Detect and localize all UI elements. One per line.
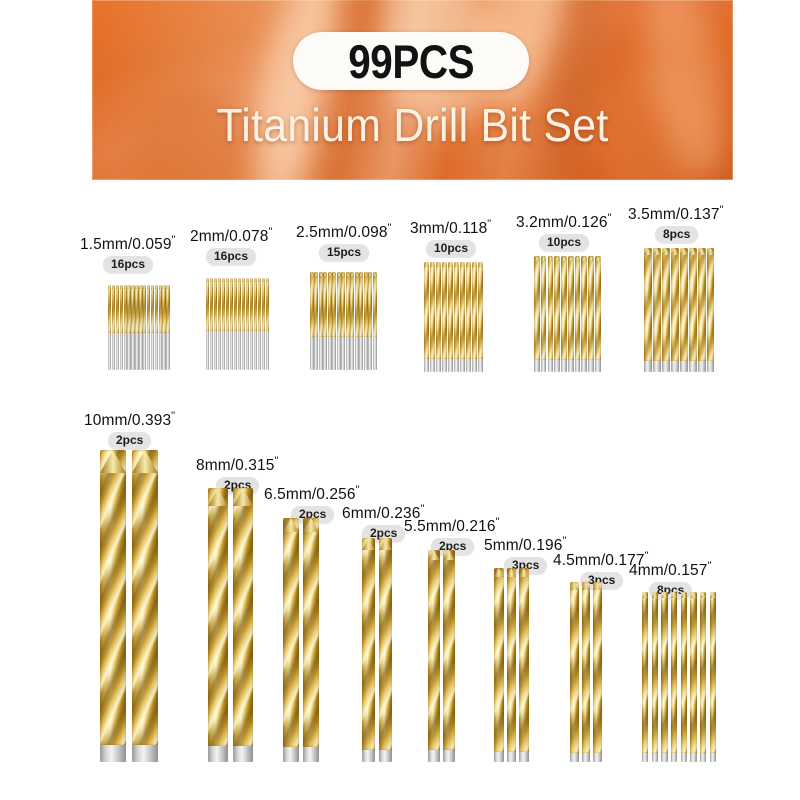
drill-bit-shank	[131, 333, 134, 370]
inch-mark: "	[496, 516, 500, 528]
drill-bit	[214, 278, 217, 370]
drill-bit-flute	[226, 278, 229, 331]
drill-bit	[707, 248, 715, 372]
drill-bit	[710, 592, 716, 762]
piece-count-label: 99PCS	[348, 34, 474, 89]
drill-bit	[436, 262, 441, 372]
bit-count-badge: 16pcs	[206, 248, 256, 265]
bit-count-badge: 16pcs	[103, 256, 153, 273]
drill-bit-shank	[214, 331, 217, 370]
drill-bit-flute	[680, 248, 688, 361]
drill-bit-group	[428, 550, 455, 762]
drill-bit	[519, 568, 529, 762]
drill-bit-flute	[448, 262, 453, 359]
bit-size-text: 3mm/0.118	[410, 220, 487, 237]
drill-bit-shank	[127, 333, 130, 370]
drill-bit	[143, 285, 146, 370]
drill-bit-flute	[139, 285, 142, 333]
drill-bit-shank	[346, 337, 350, 370]
drill-bit-shank	[108, 333, 111, 370]
drill-bit-shank	[218, 331, 221, 370]
drill-bit-shank	[442, 359, 447, 372]
drill-bit-shank	[332, 337, 336, 370]
inch-mark: "	[274, 455, 278, 467]
drill-bit	[222, 278, 225, 370]
drill-bit	[671, 248, 679, 372]
drill-bit-shank	[350, 337, 354, 370]
drill-bit-flute	[238, 278, 241, 331]
drill-bit-shank	[246, 331, 249, 370]
drill-bit-flute	[116, 285, 119, 333]
drill-bit-flute	[319, 272, 323, 337]
drill-bit-shank	[707, 361, 715, 372]
drill-bit-group	[100, 450, 158, 762]
bit-size-text: 2.5mm/0.098	[296, 224, 388, 241]
bit-size-text: 10mm/0.393	[84, 412, 171, 429]
drill-bit	[680, 248, 688, 372]
drill-bit-flute	[143, 285, 146, 333]
drill-bit-group	[310, 272, 377, 370]
drill-bit	[379, 538, 392, 762]
drill-bit-flute	[162, 285, 165, 333]
drill-bit-shank	[368, 337, 372, 370]
drill-bit-flute	[582, 582, 591, 753]
drill-bit-flute	[127, 285, 130, 333]
drill-bit-shank	[460, 359, 465, 372]
drill-bit-flute	[472, 262, 477, 359]
drill-bit-shank	[210, 331, 213, 370]
drill-bit-flute	[166, 285, 169, 333]
drill-bit-flute	[568, 256, 574, 360]
drill-bit-flute	[362, 538, 375, 750]
drill-bit-shank	[230, 331, 233, 370]
drill-bit-shank	[568, 360, 574, 372]
drill-bit-flute	[466, 262, 471, 359]
drill-bit	[238, 278, 241, 370]
drill-bit-flute	[254, 278, 257, 331]
drill-bit-group	[642, 592, 716, 762]
drill-bit-shank	[364, 337, 368, 370]
drill-bit-group	[644, 248, 714, 372]
drill-bit-flute	[368, 272, 372, 337]
inch-mark: "	[171, 410, 175, 422]
drill-bit	[310, 272, 314, 370]
drill-bit	[671, 592, 677, 762]
drill-bit-shank	[653, 361, 661, 372]
drill-bit-flute	[246, 278, 249, 331]
drill-bit-shank	[362, 750, 375, 762]
drill-bit-flute	[588, 256, 594, 360]
drill-bit-shank	[262, 331, 265, 370]
drill-bit-shank	[680, 361, 688, 372]
drill-bit	[507, 568, 517, 762]
drill-bit-flute	[135, 285, 138, 333]
drill-bit	[147, 285, 150, 370]
drill-bit-flute	[314, 272, 318, 337]
drill-bit-shank	[155, 333, 158, 370]
drill-bit-shank	[671, 753, 677, 762]
drill-bit-shank	[700, 753, 706, 762]
inch-mark: "	[720, 204, 724, 216]
drill-bit-shank	[541, 360, 547, 372]
drill-bit-flute	[653, 248, 661, 361]
drill-bit-shank	[341, 337, 345, 370]
drill-bit-flute	[379, 538, 392, 750]
bit-size-text: 8mm/0.315	[196, 457, 274, 474]
drill-bit-shank	[661, 753, 667, 762]
drill-bit-shank	[238, 331, 241, 370]
drill-bit-group	[494, 568, 529, 762]
bit-size-text: 1.5mm/0.059	[80, 236, 172, 253]
drill-bit-flute	[210, 278, 213, 331]
drill-bit-shank	[698, 361, 706, 372]
drill-bit-shank	[689, 361, 697, 372]
drill-bit	[166, 285, 169, 370]
drill-bit	[120, 285, 123, 370]
drill-bit-group	[362, 538, 392, 762]
drill-bit-flute	[478, 262, 483, 359]
drill-bit	[226, 278, 229, 370]
drill-bit	[108, 285, 111, 370]
drill-bit	[112, 285, 115, 370]
drill-bit-flute	[662, 248, 670, 361]
bit-size-text: 6.5mm/0.256	[264, 486, 356, 503]
drill-bit	[233, 488, 253, 762]
drill-bit-shank	[120, 333, 123, 370]
drill-bit	[303, 518, 319, 762]
drill-bit-flute	[266, 278, 269, 331]
drill-bit-shank	[226, 331, 229, 370]
drill-bit-flute	[671, 248, 679, 361]
drill-bit-shank	[359, 337, 363, 370]
drill-bit-flute	[346, 272, 350, 337]
drill-bit-shank	[323, 337, 327, 370]
drill-bit-flute	[595, 256, 601, 360]
bit-count-badge: 10pcs	[539, 234, 589, 251]
drill-bit-flute	[332, 272, 336, 337]
drill-bit	[319, 272, 323, 370]
drill-bit-shank	[135, 333, 138, 370]
drill-bit	[218, 278, 221, 370]
drill-bit-shank	[208, 746, 228, 762]
drill-bit	[100, 450, 126, 762]
drill-bit-shank	[428, 750, 440, 762]
product-image-canvas: 99PCS Titanium Drill Bit Set 1.5mm/0.059…	[0, 0, 800, 800]
drill-bit-flute	[644, 248, 652, 361]
drill-bit-flute	[436, 262, 441, 359]
drill-bit-flute	[424, 262, 429, 359]
drill-bit	[258, 278, 261, 370]
bit-size-text: 3.2mm/0.126	[516, 214, 608, 231]
drill-bit-flute	[570, 582, 579, 753]
drill-bit	[568, 256, 574, 372]
drill-bit-shank	[337, 337, 341, 370]
drill-bit-shank	[283, 747, 299, 762]
bit-size-label: 2.5mm/0.098"	[296, 222, 392, 242]
drill-bit-shank	[132, 745, 158, 762]
banner-blur-streak	[239, 0, 355, 180]
drill-bit	[548, 256, 554, 372]
drill-bit	[364, 272, 368, 370]
bit-size-text: 5.5mm/0.216	[404, 518, 496, 535]
drill-bit-flute	[661, 592, 667, 753]
drill-bit-group	[283, 518, 319, 762]
drill-bit	[246, 278, 249, 370]
drill-bit-group	[570, 582, 602, 762]
drill-bit-shank	[355, 337, 359, 370]
drill-bit	[250, 278, 253, 370]
drill-bit	[323, 272, 327, 370]
bit-count-badge: 15pcs	[319, 244, 369, 261]
drill-bit	[127, 285, 130, 370]
drill-bit-shank	[466, 359, 471, 372]
drill-bit-flute	[671, 592, 677, 753]
drill-bit-flute	[250, 278, 253, 331]
drill-bit-flute	[131, 285, 134, 333]
drill-bit-flute	[328, 272, 332, 337]
drill-bit-shank	[233, 746, 253, 762]
bit-size-text: 5mm/0.196	[484, 537, 562, 554]
drill-bit	[653, 248, 661, 372]
drill-bit	[428, 550, 440, 762]
drill-bit	[162, 285, 165, 370]
drill-bit-flute	[652, 592, 658, 753]
inch-mark: "	[562, 535, 566, 547]
drill-bit	[689, 248, 697, 372]
drill-bit-flute	[681, 592, 687, 753]
inch-mark: "	[172, 234, 176, 246]
drill-bit-flute	[242, 278, 245, 331]
drill-bit-shank	[443, 750, 455, 762]
drill-bit-flute	[642, 592, 648, 753]
drill-bit	[341, 272, 345, 370]
bit-size-label: 5.5mm/0.216"	[404, 516, 500, 536]
bit-size-text: 4mm/0.157	[629, 562, 707, 579]
drill-bit-shank	[548, 360, 554, 372]
drill-bit	[242, 278, 245, 370]
bit-size-label: 2mm/0.078"	[190, 226, 272, 246]
drill-bit	[443, 550, 455, 762]
drill-bit	[254, 278, 257, 370]
drill-bit	[283, 518, 299, 762]
drill-bit	[644, 248, 652, 372]
drill-bit-shank	[124, 333, 127, 370]
drill-bit-shank	[159, 333, 162, 370]
drill-bit-shank	[582, 753, 591, 762]
inch-mark: "	[268, 226, 272, 238]
drill-bit-flute	[519, 568, 529, 752]
drill-bit	[595, 256, 601, 372]
drill-bit-shank	[328, 337, 332, 370]
drill-bit-flute	[700, 592, 706, 753]
bit-size-label: 1.5mm/0.059"	[80, 234, 176, 254]
drill-bit-flute	[698, 248, 706, 361]
drill-bit-shank	[258, 331, 261, 370]
drill-bit	[135, 285, 138, 370]
page-title: Titanium Drill Bit Set	[114, 98, 710, 152]
drill-bit-flute	[233, 488, 253, 746]
drill-bit-flute	[112, 285, 115, 333]
drill-bit-flute	[359, 272, 363, 337]
drill-bit-shank	[644, 361, 652, 372]
drill-bit	[266, 278, 269, 370]
drill-bit-flute	[208, 488, 228, 746]
drill-bit-flute	[120, 285, 123, 333]
drill-bit	[424, 262, 429, 372]
drill-bit-shank	[652, 753, 658, 762]
bit-size-label: 6.5mm/0.256"	[264, 484, 360, 504]
drill-bit-shank	[595, 360, 601, 372]
drill-bit-flute	[323, 272, 327, 337]
drill-bit	[581, 256, 587, 372]
drill-bit-shank	[319, 337, 323, 370]
inch-mark: "	[487, 218, 491, 230]
drill-bit	[700, 592, 706, 762]
drill-bit-shank	[373, 337, 377, 370]
drill-bit-flute	[575, 256, 581, 360]
drill-bit-flute	[337, 272, 341, 337]
drill-bit	[534, 256, 540, 372]
drill-bit-flute	[341, 272, 345, 337]
drill-bit	[690, 592, 696, 762]
drill-bit	[155, 285, 158, 370]
inch-mark: "	[707, 560, 711, 572]
drill-bit-flute	[108, 285, 111, 333]
drill-bit-shank	[662, 361, 670, 372]
drill-bit-flute	[443, 550, 455, 750]
drill-bit-shank	[147, 333, 150, 370]
drill-bit-shank	[112, 333, 115, 370]
bit-size-label: 3mm/0.118"	[410, 218, 491, 238]
drill-bit	[332, 272, 336, 370]
drill-bit-shank	[303, 747, 319, 762]
drill-bit	[541, 256, 547, 372]
bit-count-badge: 8pcs	[655, 226, 698, 243]
drill-bit	[494, 568, 504, 762]
bit-size-label: 3.5mm/0.137"	[628, 204, 724, 224]
drill-bit-shank	[143, 333, 146, 370]
drill-bit	[588, 256, 594, 372]
drill-bit-flute	[534, 256, 540, 360]
drill-bit	[116, 285, 119, 370]
drill-bit-flute	[507, 568, 517, 752]
drill-bit-shank	[430, 359, 435, 372]
drill-bit-flute	[234, 278, 237, 331]
drill-bit-shank	[139, 333, 142, 370]
drill-bit	[561, 256, 567, 372]
drill-bit-shank	[478, 359, 483, 372]
drill-bit-flute	[541, 256, 547, 360]
drill-bit	[478, 262, 483, 372]
drill-bit-shank	[206, 331, 209, 370]
drill-bit-flute	[710, 592, 716, 753]
drill-bit-flute	[258, 278, 261, 331]
drill-bit	[448, 262, 453, 372]
bit-count-badge: 2pcs	[108, 432, 151, 449]
drill-bit	[460, 262, 465, 372]
drill-bit-flute	[430, 262, 435, 359]
drill-bit-shank	[642, 753, 648, 762]
drill-bit-shank	[472, 359, 477, 372]
banner-blur-streak	[632, 0, 733, 180]
drill-bit-shank	[116, 333, 119, 370]
drill-bit-shank	[379, 750, 392, 762]
drill-bit-flute	[350, 272, 354, 337]
drill-bit	[208, 488, 228, 762]
drill-bit-flute	[690, 592, 696, 753]
bit-size-label: 4mm/0.157"	[629, 560, 711, 580]
banner-blur-streak	[533, 0, 622, 180]
drill-bit-shank	[242, 331, 245, 370]
drill-bit-shank	[681, 753, 687, 762]
bit-count-badge: 10pcs	[426, 240, 476, 257]
drill-bit	[593, 582, 602, 762]
drill-bit	[662, 248, 670, 372]
drill-bit	[206, 278, 209, 370]
drill-bit-shank	[588, 360, 594, 372]
drill-bit	[554, 256, 560, 372]
drill-bit-shank	[151, 333, 154, 370]
drill-bit-group	[206, 278, 269, 370]
drill-bit	[466, 262, 471, 372]
drill-bit-flute	[428, 550, 440, 750]
drill-bit-flute	[206, 278, 209, 331]
drill-bit	[159, 285, 162, 370]
drill-bit-flute	[548, 256, 554, 360]
drill-bit-flute	[222, 278, 225, 331]
bit-size-label: 10mm/0.393"	[84, 410, 175, 430]
drill-bit-group	[424, 262, 483, 372]
inch-mark: "	[388, 222, 392, 234]
drill-bit	[661, 592, 667, 762]
drill-bit-shank	[222, 331, 225, 370]
drill-bit-flute	[460, 262, 465, 359]
drill-bit-shank	[310, 337, 314, 370]
drill-bit-shank	[266, 331, 269, 370]
drill-bit-flute	[364, 272, 368, 337]
drill-bit-flute	[689, 248, 697, 361]
drill-bit-flute	[494, 568, 504, 752]
drill-bit	[350, 272, 354, 370]
drill-bit-flute	[230, 278, 233, 331]
drill-bit	[131, 285, 134, 370]
drill-bit-shank	[575, 360, 581, 372]
drill-bit-flute	[554, 256, 560, 360]
drill-bit-flute	[283, 518, 299, 747]
drill-bit-flute	[581, 256, 587, 360]
drill-bit	[124, 285, 127, 370]
drill-bit	[362, 538, 375, 762]
header-banner: 99PCS Titanium Drill Bit Set	[92, 0, 733, 180]
drill-bit	[570, 582, 579, 762]
piece-count-badge: 99PCS	[293, 32, 529, 90]
drill-bit-flute	[593, 582, 602, 753]
drill-bit-flute	[100, 450, 126, 745]
drill-bit	[151, 285, 154, 370]
drill-bit-shank	[671, 361, 679, 372]
drill-bit-flute	[155, 285, 158, 333]
drill-bit-shank	[534, 360, 540, 372]
drill-bit	[230, 278, 233, 370]
drill-bit-shank	[254, 331, 257, 370]
inch-mark: "	[608, 212, 612, 224]
drill-bit	[234, 278, 237, 370]
drill-bit	[359, 272, 363, 370]
drill-bit-shank	[494, 752, 504, 762]
drill-bit-shank	[710, 753, 716, 762]
banner-blur-streak	[307, 0, 398, 180]
drill-bit	[314, 272, 318, 370]
